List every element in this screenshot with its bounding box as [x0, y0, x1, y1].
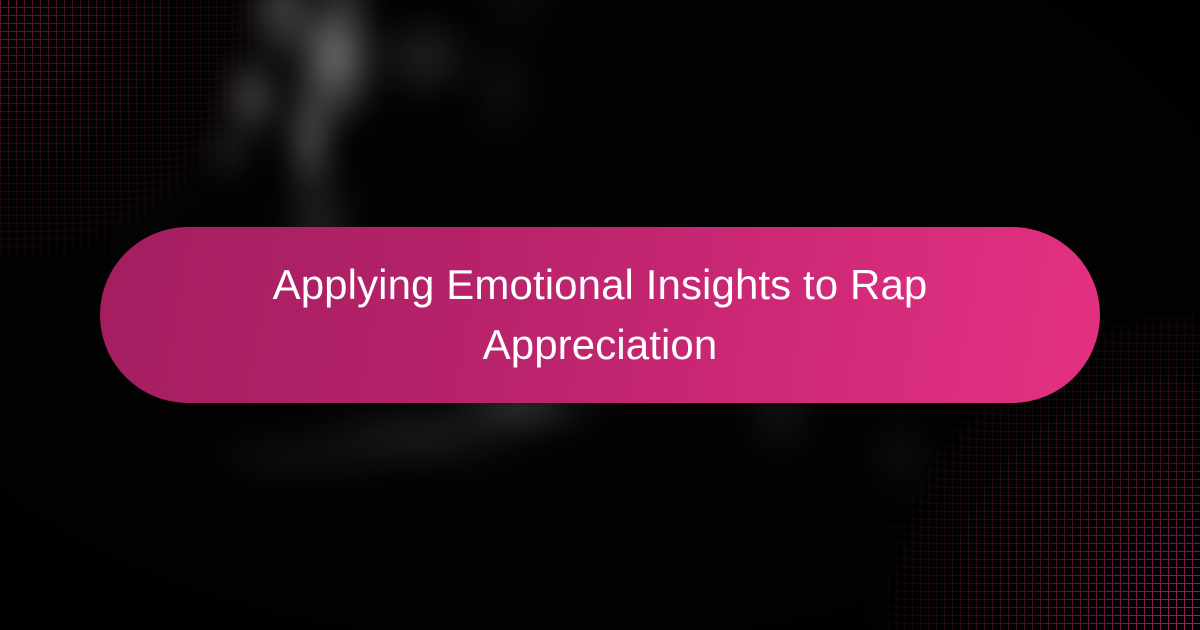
page-title: Applying Emotional Insights to Rap Appre… — [250, 255, 950, 374]
og-card: Applying Emotional Insights to Rap Appre… — [0, 0, 1200, 630]
title-pill: Applying Emotional Insights to Rap Appre… — [100, 227, 1100, 403]
